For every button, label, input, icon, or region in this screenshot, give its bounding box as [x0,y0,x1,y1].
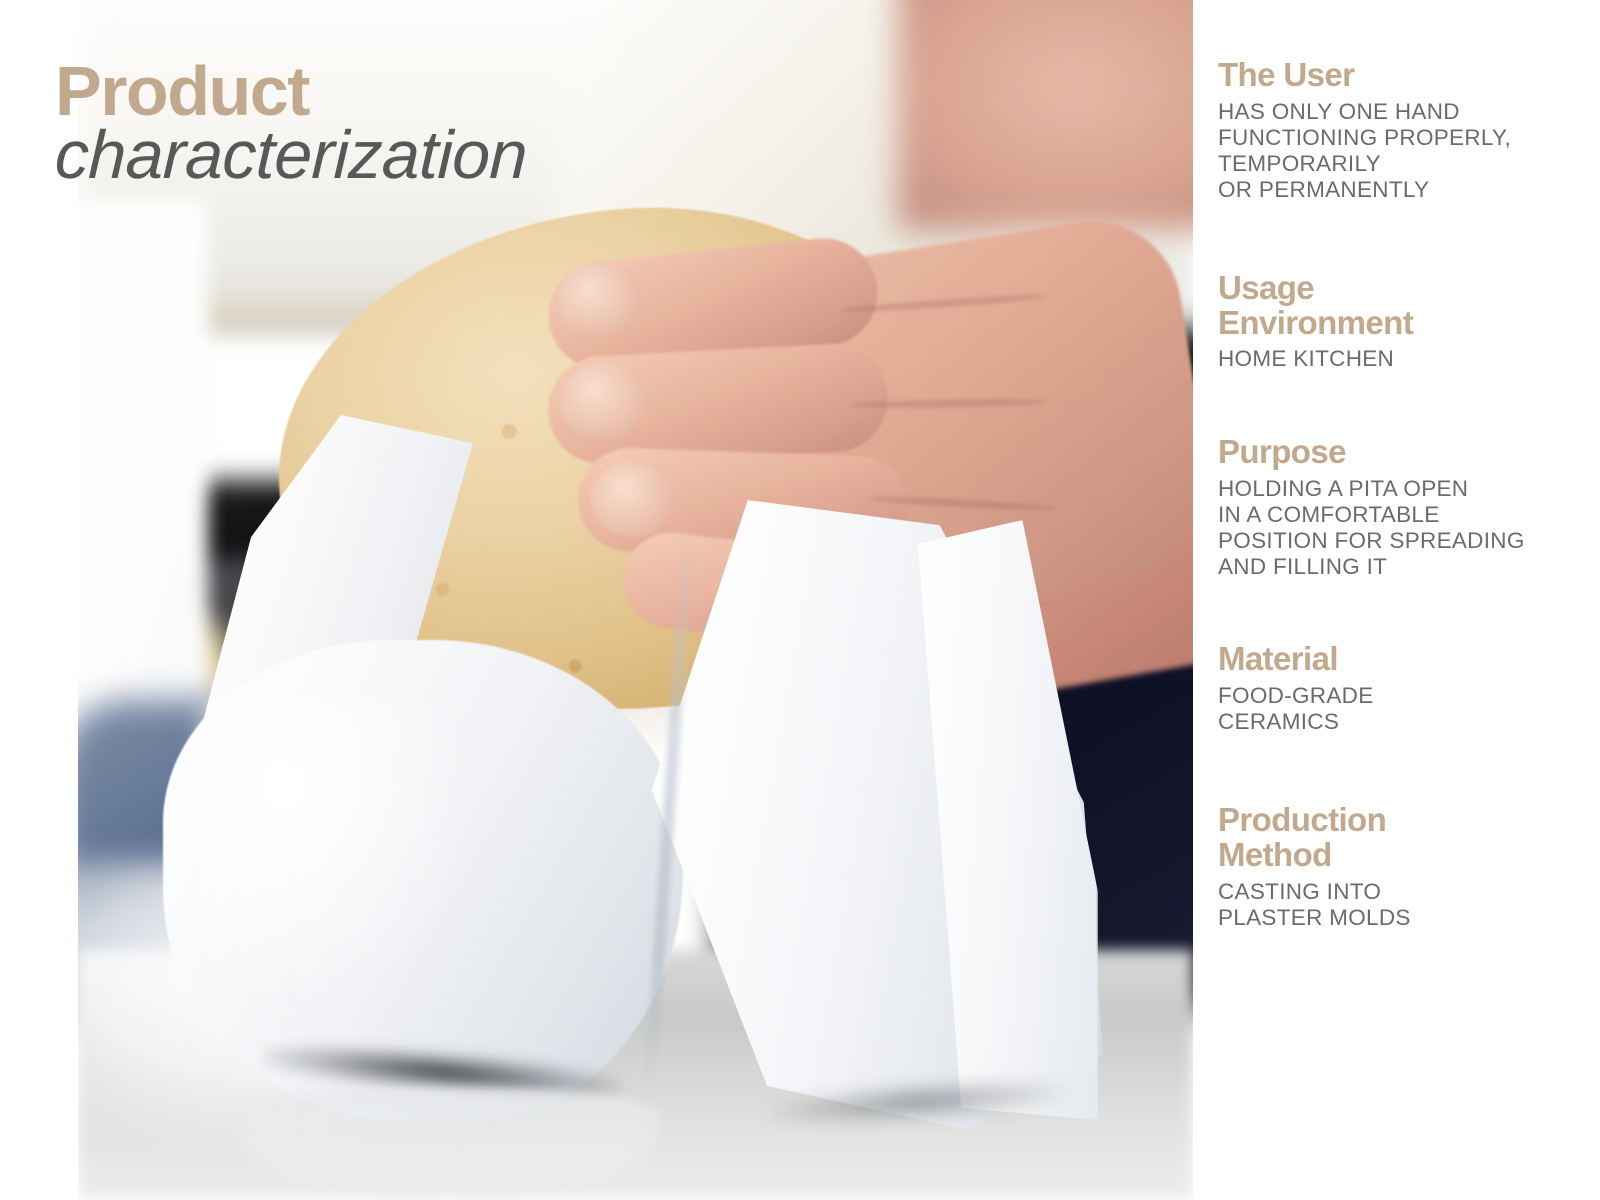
spec-sidebar: The User HAS ONLY ONE HAND FUNCTIONING P… [1193,0,1600,1200]
spec-body-material: FOOD-GRADE CERAMICS [1218,683,1600,735]
spec-heading-production-method: Production Method [1218,803,1600,872]
spec-section-usage-environment: Usage Environment HOME KITCHEN [1218,271,1600,372]
spec-body-production-method: CASTING INTO PLASTER MOLDS [1218,879,1600,931]
fingernail-ring [590,462,674,536]
spec-body-the-user: HAS ONLY ONE HAND FUNCTIONING PROPERLY, … [1218,99,1600,203]
spec-section-production-method: Production Method CASTING INTO PLASTER M… [1218,803,1600,930]
slide-root: Product characterization The User HAS ON… [0,0,1600,1200]
product-photo-panel: Product characterization [0,0,1193,1200]
spec-section-material: Material FOOD-GRADE CERAMICS [1218,642,1600,735]
spec-section-the-user: The User HAS ONLY ONE HAND FUNCTIONING P… [1218,58,1600,203]
spec-section-purpose: Purpose HOLDING A PITA OPEN IN A COMFORT… [1218,435,1600,580]
ceramic-holder-highlight [198,700,458,1000]
spec-body-purpose: HOLDING A PITA OPEN IN A COMFORTABLE POS… [1218,476,1600,580]
page-title: Product [55,58,527,125]
page-subtitle: characterization [54,121,528,189]
spec-heading-the-user: The User [1218,58,1600,93]
slide-title-block: Product characterization [55,58,527,189]
spec-body-usage-environment: HOME KITCHEN [1218,346,1600,372]
spec-heading-usage-environment: Usage Environment [1218,271,1600,340]
spec-heading-material: Material [1218,642,1600,677]
spec-heading-purpose: Purpose [1218,435,1600,470]
photo-background-face [898,0,1193,230]
